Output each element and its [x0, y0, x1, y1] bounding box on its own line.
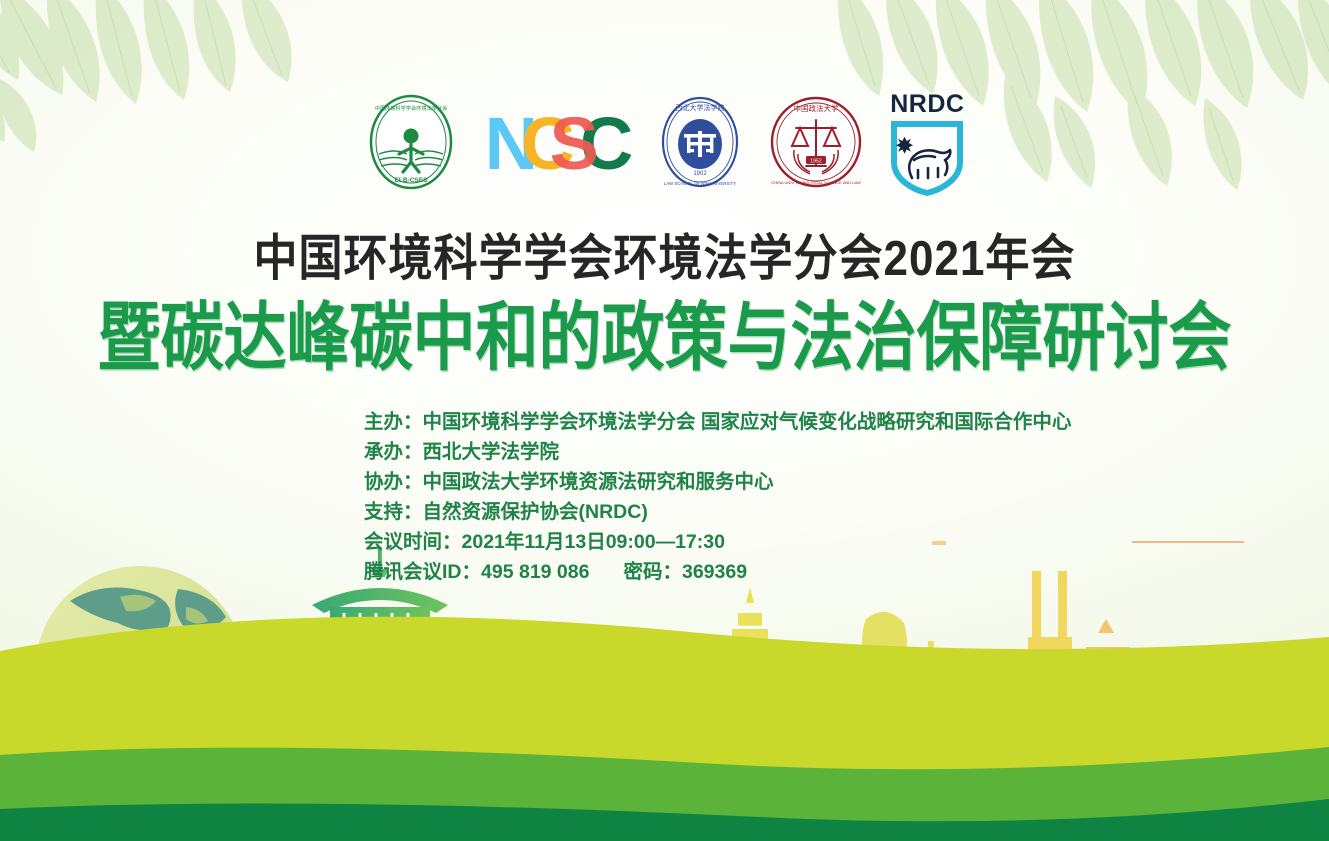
organizer-value: 西北大学法学院: [423, 441, 560, 463]
page-title-line1: 中国环境科学学会环境法学分会2021年会: [0, 228, 1329, 290]
svg-text:中国环境科学学会环境法学分会: 中国环境科学学会环境法学分会: [374, 104, 447, 112]
coorganizer-row: 协办：中国政法大学环境资源法研究和服务中心: [364, 467, 1071, 497]
csesels-emblem: 中国环境科学学会环境法学分会 ELB-CSES: [363, 92, 459, 197]
time-row: 会议时间：2021年11月13日09:00—17:30: [364, 527, 1071, 557]
meeting-id-value: 495 819 086: [481, 561, 589, 583]
organizer-row: 承办：西北大学法学院: [364, 437, 1071, 467]
conference-details: 主办：中国环境科学学会环境法学分会 国家应对气候变化战略研究和国际合作中心 承办…: [364, 407, 1071, 587]
page-title-line2: 暨碳达峰碳中和的政策与法治保障研讨会: [0, 297, 1329, 380]
ncsc-letter-s: S: [550, 107, 596, 181]
svg-text:LAW SCHOOL OF NW UNIVERSITY: LAW SCHOOL OF NW UNIVERSITY: [664, 181, 736, 186]
meeting-row: 腾讯会议ID：495 819 086密码：369369: [364, 557, 1071, 587]
svg-text:1952: 1952: [811, 158, 823, 164]
cupl-emblem: 中国政法大学 1952 CHINA UNIV. OF POLITICAL SCI: [770, 94, 862, 195]
coorganizer-value: 中国政法大学环境资源法研究和服务中心: [423, 471, 774, 493]
coorganizer-label: 协办：: [364, 471, 423, 493]
svg-text:CHINA UNIV. OF POLITICAL SCIEN: CHINA UNIV. OF POLITICAL SCIENCE AND LAW: [772, 180, 862, 185]
meeting-id-label: 腾讯会议ID：: [364, 561, 481, 583]
time-label: 会议时间：: [364, 531, 462, 553]
nrdc-wordmark: NRDC: [890, 92, 964, 117]
support-value: 自然资源保护协会(NRDC): [423, 501, 648, 523]
northwest-university-law-school-emblem: 西北大学法学院 1902 LAW SCHOOL OF NW UNIVERSITY: [656, 93, 744, 196]
svg-text:中国政法大学: 中国政法大学: [794, 103, 839, 113]
organizer-label: 承办：: [364, 441, 423, 463]
nrdc-logo: NRDC: [888, 92, 966, 196]
svg-text:ELB-CSES: ELB-CSES: [394, 177, 428, 184]
password-label: 密码：: [623, 561, 682, 583]
svg-text:西北大学法学院: 西北大学法学院: [676, 103, 725, 112]
time-value: 2021年11月13日09:00—17:30: [462, 531, 725, 553]
support-label: 支持：: [364, 501, 423, 523]
logo-strip: 中国环境科学学会环境法学分会 ELB-CSES N C S C: [0, 88, 1329, 200]
conference-poster: 中国环境科学学会环境法学分会 ELB-CSES N C S C: [0, 0, 1329, 841]
title-block: 中国环境科学学会环境法学分会2021年会 暨碳达峰碳中和的政策与法治保障研讨会: [0, 228, 1329, 368]
host-row: 主办：中国环境科学学会环境法学分会 国家应对气候变化战略研究和国际合作中心: [364, 407, 1071, 437]
password-value: 369369: [682, 561, 747, 583]
host-label: 主办：: [364, 411, 423, 433]
support-row: 支持：自然资源保护协会(NRDC): [364, 497, 1071, 527]
host-value: 中国环境科学学会环境法学分会 国家应对气候变化战略研究和国际合作中心: [423, 411, 1072, 433]
ncsc-logo: N C S C: [485, 107, 631, 181]
svg-text:1902: 1902: [694, 171, 708, 177]
